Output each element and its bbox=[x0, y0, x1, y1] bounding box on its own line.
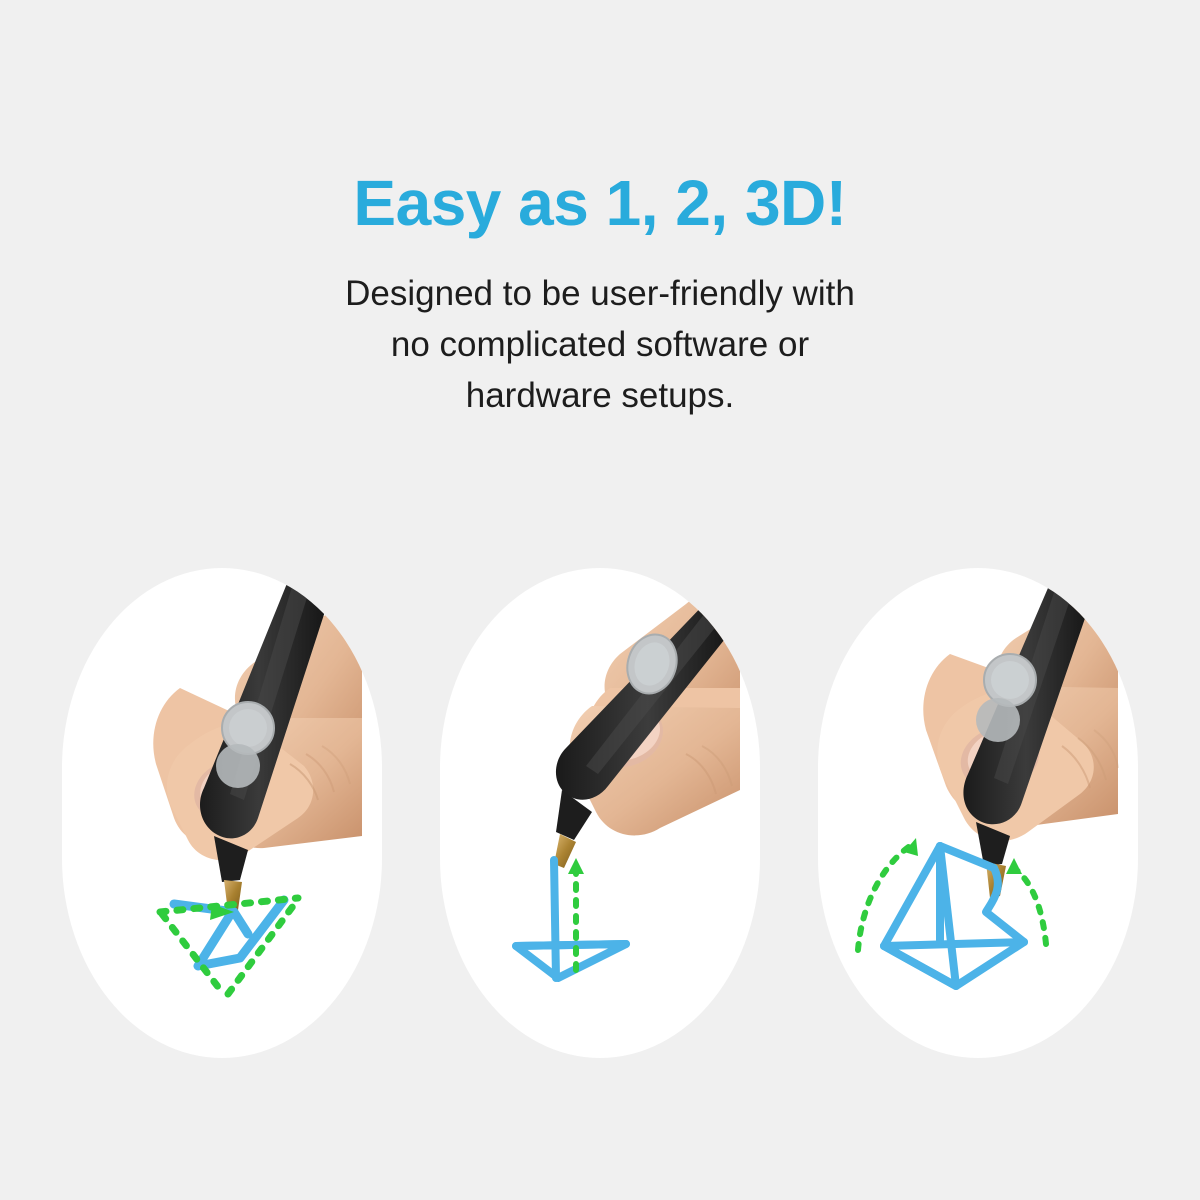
pen-button-bottom-icon bbox=[976, 698, 1020, 742]
subtitle-line-2: no complicated software or bbox=[0, 320, 1200, 371]
pen-button-bottom-icon bbox=[216, 744, 260, 788]
step-panels-row bbox=[62, 568, 1138, 1058]
subtitle-line-1: Designed to be user-friendly with bbox=[0, 269, 1200, 320]
page-headline: Easy as 1, 2, 3D! bbox=[0, 170, 1200, 237]
subtitle-line-3: hardware setups. bbox=[0, 371, 1200, 422]
drawing-vertical-strand bbox=[516, 860, 626, 978]
header-block: Easy as 1, 2, 3D! Designed to be user-fr… bbox=[0, 170, 1200, 421]
step-panel-2 bbox=[440, 568, 760, 1058]
step-panel-1 bbox=[62, 568, 382, 1058]
page-subtitle: Designed to be user-friendly with no com… bbox=[0, 269, 1200, 421]
motion-arrowhead-right-icon bbox=[1006, 858, 1022, 874]
motion-arrowhead-icon bbox=[568, 858, 584, 874]
product-feature-graphic: Easy as 1, 2, 3D! Designed to be user-fr… bbox=[0, 0, 1200, 1200]
step-panel-3 bbox=[818, 568, 1138, 1058]
